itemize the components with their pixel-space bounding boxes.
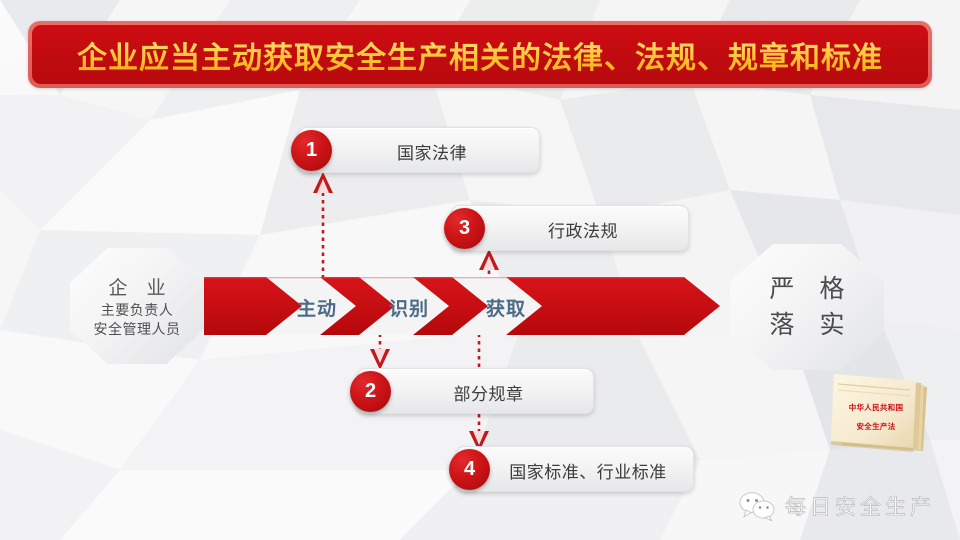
info-card-partial-rules[interactable]: 部分规章 2 <box>357 368 594 414</box>
info-card-badge: 1 <box>291 130 332 171</box>
process-step-label-2: 识别 <box>389 294 429 321</box>
page-title: 企业应当主动获取安全生产相关的法律、法规、规章和标准 <box>77 33 883 77</box>
hexagon-implementation-line-1: 严 格 <box>761 271 854 307</box>
info-card-national-law[interactable]: 国家法律 1 <box>298 127 540 173</box>
info-card-administrative-regulation[interactable]: 行政法规 3 <box>451 205 689 251</box>
process-step-label-3: 获取 <box>486 294 526 321</box>
info-card-label: 国家法律 <box>299 128 539 174</box>
hexagon-implementation: 严 格 落 实 <box>730 244 884 370</box>
process-arrow-band: 主动 识别 获取 <box>204 277 720 335</box>
info-card-label: 国家标准、行业标准 <box>457 447 693 493</box>
hexagon-enterprise-title: 企 业 <box>101 273 172 300</box>
slide-canvas: 企业应当主动获取安全生产相关的法律、法规、规章和标准 <box>0 0 960 540</box>
hexagon-enterprise-subtitle-2: 安全管理人员 <box>94 320 181 339</box>
watermark: 每日安全生产 <box>738 489 935 523</box>
watermark-text: 每日安全生产 <box>785 491 935 521</box>
title-banner-inner: 企业应当主动获取安全生产相关的法律、法规、规章和标准 <box>32 25 928 84</box>
title-banner: 企业应当主动获取安全生产相关的法律、法规、规章和标准 <box>28 21 932 88</box>
law-book-line-1: 中华人民共和国 <box>838 402 914 413</box>
info-card-badge: 3 <box>444 208 485 249</box>
info-card-badge: 4 <box>449 449 490 490</box>
wechat-icon <box>738 491 776 521</box>
connector-band-to-card-1 <box>308 168 338 288</box>
info-card-standards[interactable]: 国家标准、行业标准 4 <box>456 446 694 492</box>
law-book-line-2: 安全生产法 <box>838 421 914 432</box>
hexagon-implementation-line-2: 落 实 <box>761 307 854 343</box>
info-card-label: 部分规章 <box>358 369 593 415</box>
hexagon-enterprise: 企 业 主要负责人 安全管理人员 <box>70 248 204 364</box>
law-book-graphic: 中华人民共和国 安全生产法 <box>828 373 932 455</box>
info-card-label: 行政法规 <box>452 206 688 252</box>
info-card-badge: 2 <box>350 371 391 412</box>
hexagon-enterprise-subtitle-1: 主要负责人 <box>101 301 174 320</box>
process-step-label-1: 主动 <box>297 294 337 321</box>
